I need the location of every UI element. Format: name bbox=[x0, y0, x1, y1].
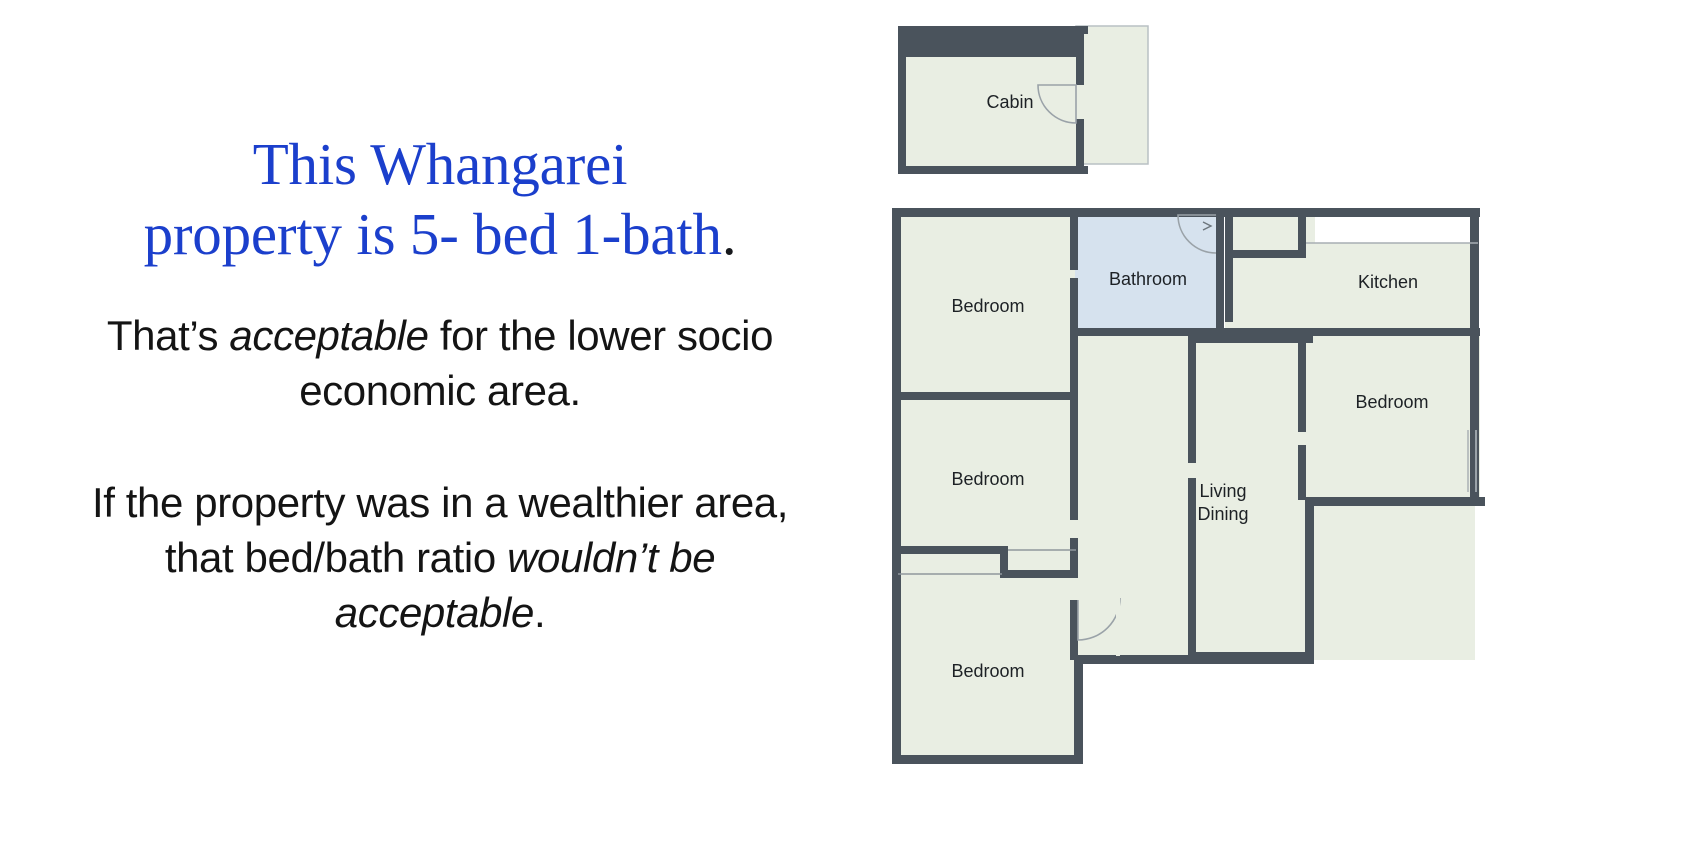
wall-kitchen-closet-bottom bbox=[1225, 250, 1305, 258]
wall-living-left-a bbox=[1188, 335, 1196, 463]
page-title: This Whangarei property is 5- bed 1-bath… bbox=[60, 130, 820, 269]
wall-kitchen-bottom bbox=[1305, 328, 1480, 336]
kitchen-window-gap bbox=[1315, 215, 1475, 243]
room-label-dining: Dining bbox=[1197, 504, 1248, 524]
room-label-cabin: Cabin bbox=[986, 92, 1033, 112]
headline-period: . bbox=[722, 201, 737, 267]
main-house: Bedroom Bathroom Kitchen Bedroom Living … bbox=[892, 208, 1485, 764]
paragraph-1-emphasis: acceptable bbox=[229, 312, 428, 359]
wall-living-left-b bbox=[1188, 478, 1196, 660]
bedroom-3-fill bbox=[900, 548, 1075, 758]
headline-line-2: property is 5- bed 1-bath bbox=[144, 201, 722, 267]
paragraph-2-part-2: . bbox=[534, 589, 545, 636]
wall-exterior-right-step bbox=[1305, 497, 1485, 506]
cabin-block: Cabin bbox=[898, 26, 1148, 174]
text-column: This Whangarei property is 5- bed 1-bath… bbox=[60, 130, 820, 640]
wall-closet-top bbox=[896, 546, 1008, 554]
cabin-wall-right-upper bbox=[1076, 26, 1084, 85]
hallway-door-leaf bbox=[1116, 598, 1120, 656]
wall-exterior-bottom-step bbox=[1074, 655, 1083, 764]
body-paragraph-2: If the property was in a wealthier area,… bbox=[60, 476, 820, 640]
paragraph-1-part-1: That’s bbox=[107, 312, 229, 359]
cabin-wall-bottom bbox=[898, 166, 1088, 174]
wall-bedroom1-hall-b bbox=[1070, 278, 1078, 396]
wall-bedroom1-bedroom2 bbox=[896, 392, 1078, 400]
wall-bedroom2-hall-a bbox=[1070, 400, 1078, 520]
cabin-deck bbox=[1076, 26, 1148, 164]
headline-line-1: This Whangarei bbox=[253, 131, 628, 197]
wall-closet-bottom bbox=[1000, 570, 1078, 578]
floor-plan-svg: Cabin bbox=[880, 0, 1692, 861]
wall-exterior-left bbox=[892, 208, 901, 764]
room-label-kitchen: Kitchen bbox=[1358, 272, 1418, 292]
room-label-bedroom-2: Bedroom bbox=[951, 469, 1024, 489]
wall-bedroom-right-left-a bbox=[1298, 332, 1306, 432]
room-label-bedroom-3: Bedroom bbox=[951, 661, 1024, 681]
room-label-bedroom-right: Bedroom bbox=[1355, 392, 1428, 412]
room-label-living: Living bbox=[1199, 481, 1246, 501]
wall-bedroom1-hall-a bbox=[1070, 208, 1078, 270]
room-label-bathroom: Bathroom bbox=[1109, 269, 1187, 289]
wall-bathroom-bottom bbox=[1075, 328, 1223, 336]
slide-canvas: This Whangarei property is 5- bed 1-bath… bbox=[0, 0, 1692, 861]
wall-bedroom3-hall bbox=[1070, 600, 1078, 660]
body-paragraph-1: That’s acceptable for the lower socio ec… bbox=[60, 309, 820, 418]
wall-living-bottom bbox=[1188, 652, 1314, 660]
cabin-wall-left bbox=[898, 26, 906, 174]
floor-plan: Cabin bbox=[880, 0, 1692, 861]
wall-exterior-bottom-left bbox=[892, 755, 1082, 764]
cabin-wall-top bbox=[898, 26, 1088, 34]
wall-kitchen-bottom-left bbox=[1216, 328, 1306, 336]
wall-exterior-right bbox=[1470, 208, 1479, 503]
wall-living-top bbox=[1188, 335, 1313, 343]
wall-kitchen-closet-left bbox=[1225, 212, 1233, 322]
bedroom-right-fill bbox=[1305, 332, 1480, 497]
wall-living-right bbox=[1305, 497, 1314, 659]
room-label-bedroom-1: Bedroom bbox=[951, 296, 1024, 316]
wall-bathroom-right bbox=[1216, 208, 1224, 336]
cabin-wall-right-lower bbox=[1076, 119, 1084, 174]
wall-bedroom-right-left-b bbox=[1298, 445, 1306, 500]
